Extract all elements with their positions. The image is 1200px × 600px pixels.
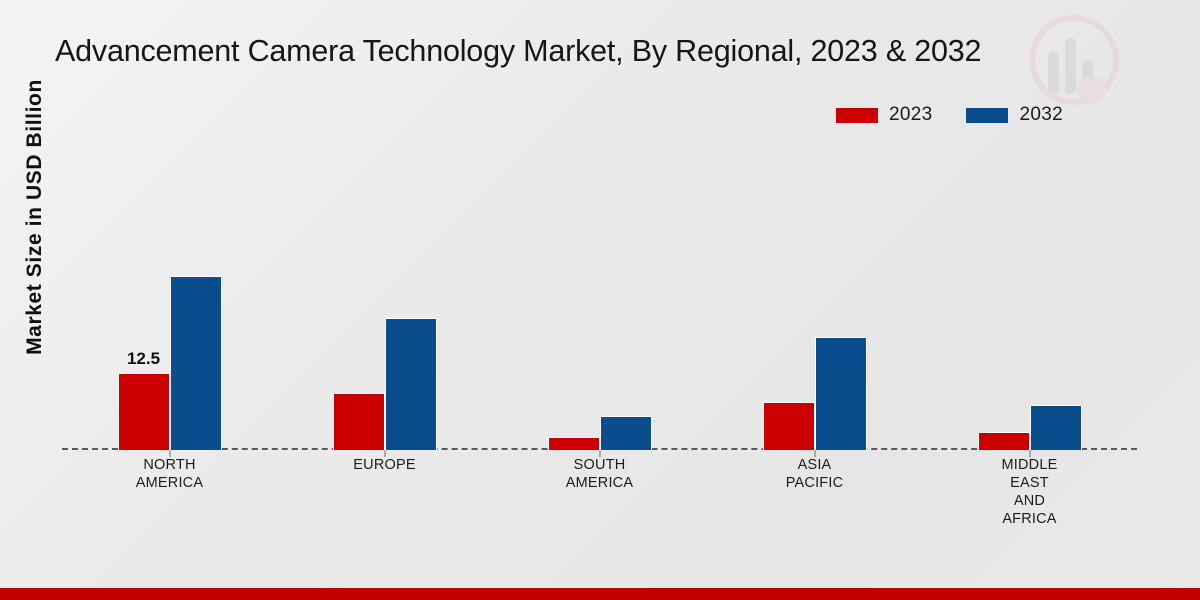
footer-accent-bar	[0, 588, 1200, 600]
bar-2032[interactable]	[815, 337, 867, 450]
chart-legend: 2023 2032	[836, 104, 1063, 126]
legend-label-2032: 2032	[1019, 104, 1062, 126]
bar-2032[interactable]	[170, 276, 222, 450]
legend-item-2032[interactable]: 2032	[966, 104, 1062, 126]
page-title: Advancement Camera Technology Market, By…	[55, 34, 1155, 69]
plot-area: 12.5 NORTH AMERICA EUROPE SOUTH AMERICA	[62, 150, 1137, 450]
chart-page: Advancement Camera Technology Market, By…	[0, 0, 1200, 600]
bar-2023[interactable]	[978, 432, 1030, 450]
bar-2023[interactable]	[763, 402, 815, 450]
x-axis-category-label: MIDDLE EAST AND AFRICA	[940, 456, 1120, 528]
bar-2032[interactable]	[600, 416, 652, 450]
bar-group: ASIA PACIFIC	[707, 150, 922, 450]
bar-2023[interactable]: 12.5	[118, 373, 170, 450]
bar-group: 12.5 NORTH AMERICA	[62, 150, 277, 450]
x-axis-category-label: EUROPE	[295, 456, 475, 474]
legend-item-2023[interactable]: 2023	[836, 104, 932, 126]
bar-pair	[492, 150, 707, 450]
bar-value-label: 12.5	[127, 349, 160, 369]
bar-2032[interactable]	[1030, 405, 1082, 450]
legend-swatch-2032	[966, 108, 1008, 123]
y-axis-title: Market Size in USD Billion	[23, 42, 47, 392]
bar-2023[interactable]	[333, 393, 385, 450]
x-axis-category-label: SOUTH AMERICA	[510, 456, 690, 492]
bar-pair: 12.5	[62, 150, 277, 450]
legend-swatch-2023	[836, 108, 878, 123]
bar-2032[interactable]	[385, 318, 437, 450]
x-axis-category-label: NORTH AMERICA	[80, 456, 260, 492]
bar-2023[interactable]	[548, 437, 600, 450]
legend-label-2023: 2023	[889, 104, 932, 126]
bar-group: SOUTH AMERICA	[492, 150, 707, 450]
x-axis-category-label: ASIA PACIFIC	[725, 456, 905, 492]
bar-pair	[922, 150, 1137, 450]
bar-group: MIDDLE EAST AND AFRICA	[922, 150, 1137, 450]
bar-pair	[277, 150, 492, 450]
bar-group: EUROPE	[277, 150, 492, 450]
bar-pair	[707, 150, 922, 450]
